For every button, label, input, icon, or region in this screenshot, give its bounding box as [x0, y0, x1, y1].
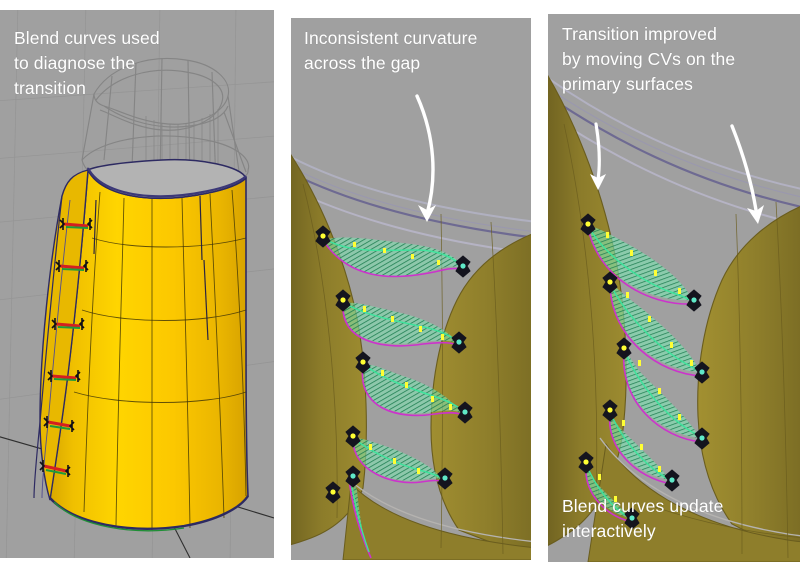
screenshot-stage: Blend curves used to diagnose the transi… [0, 0, 800, 576]
before-viewport-panel[interactable] [291, 18, 531, 560]
gold-surface-solid [40, 160, 248, 531]
before-viewport-render [291, 18, 531, 560]
after-viewport-render [548, 14, 800, 562]
after-viewport-panel[interactable] [548, 14, 800, 562]
overview-viewport-panel[interactable] [0, 10, 274, 558]
overview-viewport-render [0, 10, 274, 558]
